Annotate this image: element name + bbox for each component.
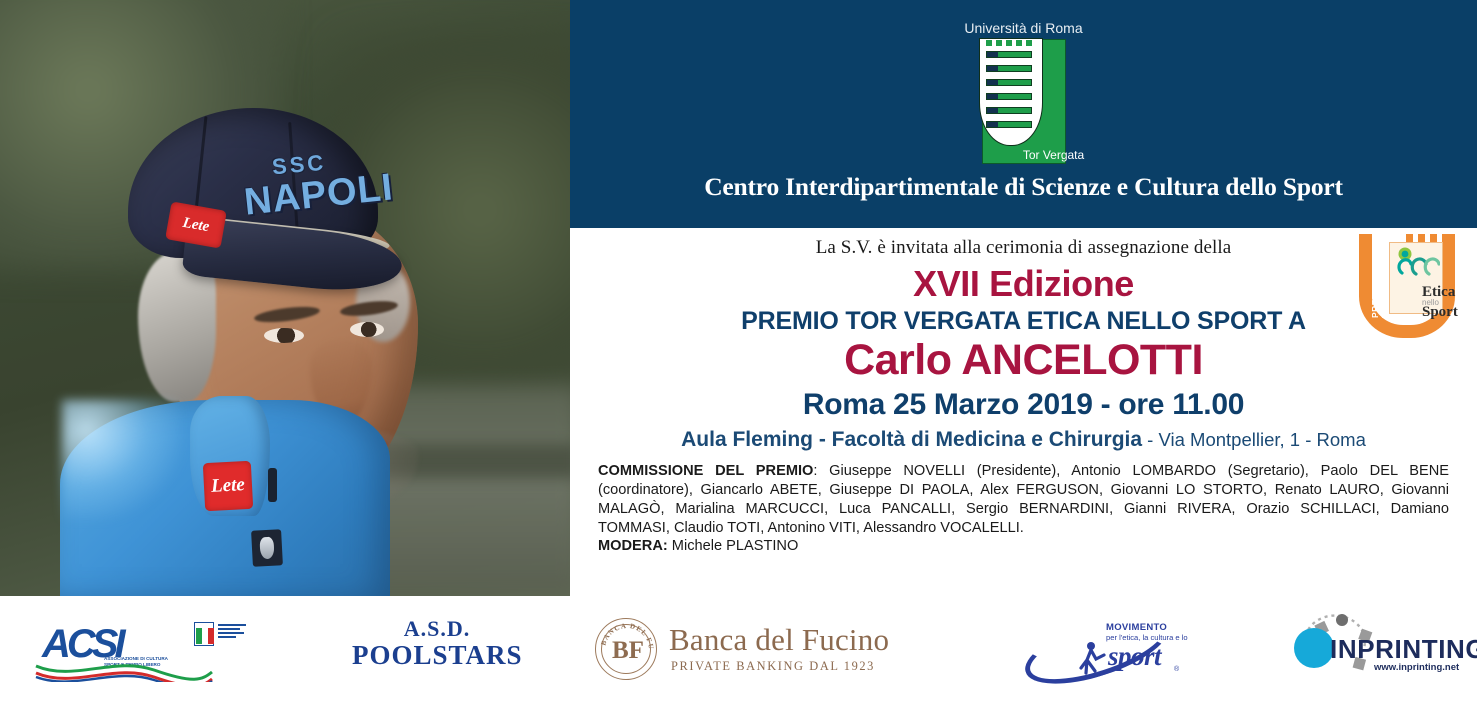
venue-primary: Aula Fleming - Facoltà di Medicina e Chi… [681,428,1142,451]
university-logo-bottom-text: Tor Vergata [1012,148,1096,162]
sponsor-acsi: ACSI ASSOCIAZIONE DI CULTURA SPORT E TEM… [34,616,234,682]
sponsor-asd-poolstars: A.S.D. POOLSTARS [352,616,522,682]
etica-inner-card: Etica nello Sport [1389,242,1443,314]
subject-eye-left [264,328,304,343]
etica-sport-award-logo: Etica nello Sport PREMIO TOR VERGATA [1359,234,1455,338]
sponsor-banca-del-fucino: BANCA DEL FUCINO BF Banca del Fucino PRI… [595,614,915,684]
sponsor-footer: ACSI ASSOCIAZIONE DI CULTURA SPORT E TEM… [0,596,1477,701]
university-shield: Tor Vergata [982,39,1066,164]
event-invitation-poster: SSC NAPOLI Lete Lete Università di Roma [0,0,1477,701]
shield-crenellation [986,40,1032,46]
moderator-label: MODERA: [598,538,668,554]
inprinting-circle-icon [1294,628,1334,668]
etica-label-line3: Sport [1422,305,1458,320]
invitation-line: La S.V. è invitata alla cerimonia di ass… [592,237,1455,259]
commission-paragraph: COMMISSIONE DEL PREMIO: Giuseppe NOVELLI… [592,462,1455,538]
carlo-ancelotti-photo: SSC NAPOLI Lete Lete [0,0,570,596]
inprinting-url: www.inprinting.net [1374,662,1459,673]
asd-line1: A.S.D. [352,616,522,642]
jacket-club-badge [251,529,283,567]
movimento-figure-icon [1074,640,1108,678]
shield-u-shape [979,38,1043,146]
banca-seal-icon: BANCA DEL FUCINO BF [595,618,657,680]
invitation-body: Etica nello Sport PREMIO TOR VERGATA La … [570,228,1477,596]
header-banner: Università di Roma Tor Vergata Cent [570,0,1477,228]
coni-text-lines [218,624,246,644]
banca-monogram: BF [612,637,642,665]
etica-vertical-text: PREMIO TOR VERGATA [1370,240,1390,318]
subject-eye-right [350,322,384,337]
tor-vergata-university-logo: Università di Roma Tor Vergata [952,20,1096,164]
university-logo-top-text: Università di Roma [952,20,1096,36]
shield-bar [986,79,1032,86]
event-date-time: Roma 25 Marzo 2019 - ore 11.00 [592,388,1455,422]
shield-bar [986,121,1032,128]
moderator-name: Michele PLASTINO [668,538,799,554]
acsi-wave-graphic [34,660,214,682]
cap-lete-label: Lete [181,214,210,235]
asd-line2: POOLSTARS [352,640,522,671]
sponsor-inprinting: INPRINTING www.inprinting.net [1290,610,1470,686]
movimento-line3: sport [1108,641,1161,672]
page-title: Centro Interdipartimentale di Scienze e … [570,172,1477,202]
jacket-lete-patch: Lete [203,461,253,511]
jacket-zipper [268,468,277,502]
venue-address: - Via Montpellier, 1 - Roma [1142,429,1366,450]
movimento-line1: MOVIMENTO [1106,622,1167,633]
shield-bar [986,93,1032,100]
movimento-registered-mark: ® [1174,666,1179,673]
award-name-heading: PREMIO TOR VERGATA ETICA NELLO SPORT A [592,307,1455,336]
jacket-highlight [62,400,182,520]
shield-bar [986,51,1032,58]
banca-name: Banca del Fucino [669,622,889,658]
napoli-cap: SSC NAPOLI Lete [120,108,420,298]
edition-heading: XVII Edizione [592,263,1455,305]
shield-bar [986,107,1032,114]
commission-label: COMMISSIONE DEL PREMIO [598,463,813,479]
etica-swirl-icon [1396,247,1440,277]
moderator-line: MODERA: Michele PLASTINO [592,538,1455,554]
recipient-name: Carlo ANCELOTTI [592,336,1455,385]
jacket-lete-label: Lete [211,474,246,498]
invitation-content-panel: Università di Roma Tor Vergata Cent [570,0,1477,596]
event-venue: Aula Fleming - Facoltà di Medicina e Chi… [592,428,1455,452]
inprinting-wordmark: INPRINTING [1330,634,1477,665]
banca-tagline: PRIVATE BANKING DAL 1923 [671,659,875,674]
shield-bar [986,65,1032,72]
italy-flag-icon [194,622,214,646]
sponsor-movimento-sport: MOVIMENTO per l'etica, la cultura e lo s… [1022,614,1202,684]
acsi-coni-mark [194,622,246,648]
